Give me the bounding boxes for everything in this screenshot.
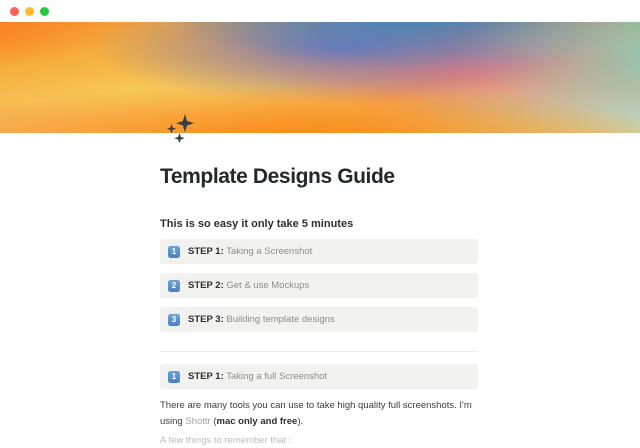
minimize-button[interactable] xyxy=(25,7,34,16)
step-label-bold: STEP 3: xyxy=(188,314,224,325)
gradient-layer-bottom xyxy=(0,22,640,133)
step-number-badge: 1 xyxy=(168,246,180,258)
step-number-badge: 1 xyxy=(168,371,180,383)
step-label-bold: STEP 2: xyxy=(188,280,224,291)
step-label: STEP 2: Get & use Mockups xyxy=(188,280,309,291)
step-label: STEP 3: Building template designs xyxy=(188,314,335,325)
subheading: This is so easy it only take 5 minutes xyxy=(160,218,478,230)
step-row-3[interactable]: 3 STEP 3: Building template designs xyxy=(160,307,478,332)
step-row-1[interactable]: 1 STEP 1: Taking a Screenshot xyxy=(160,239,478,264)
maximize-button[interactable] xyxy=(40,7,49,16)
window-titlebar xyxy=(0,0,640,22)
step-label-text: Get & use Mockups xyxy=(226,280,309,291)
step-label-text: Taking a full Screenshot xyxy=(226,371,327,382)
step-label-text: Building template designs xyxy=(226,314,334,325)
step-label: STEP 1: Taking a full Screenshot xyxy=(188,371,327,382)
step-label: STEP 1: Taking a Screenshot xyxy=(188,246,312,257)
step-number-badge: 3 xyxy=(168,314,180,326)
step-number-badge: 2 xyxy=(168,280,180,292)
document-page: Template Designs Guide This is so easy i… xyxy=(0,133,640,400)
body-paragraph: There are many tools you can use to take… xyxy=(160,398,478,429)
step-label-bold: STEP 1: xyxy=(188,246,224,257)
paragraph-bold: mac only and free xyxy=(217,416,298,427)
cover-banner[interactable] xyxy=(0,22,640,133)
step-label-text: Taking a Screenshot xyxy=(226,246,312,257)
content-column: Template Designs Guide This is so easy i… xyxy=(160,133,478,448)
sparkles-icon[interactable] xyxy=(162,112,202,148)
section-divider xyxy=(160,351,478,352)
page-title[interactable]: Template Designs Guide xyxy=(160,164,478,189)
step-detail-header[interactable]: 1 STEP 1: Taking a full Screenshot xyxy=(160,364,478,389)
clipped-line: A few things to remember that : xyxy=(160,433,478,448)
close-button[interactable] xyxy=(10,7,19,16)
paragraph-tail: ). xyxy=(297,416,303,427)
step-label-bold: STEP 1: xyxy=(188,371,224,382)
step-row-2[interactable]: 2 STEP 2: Get & use Mockups xyxy=(160,273,478,298)
shottr-link[interactable]: Shottr xyxy=(185,416,210,427)
